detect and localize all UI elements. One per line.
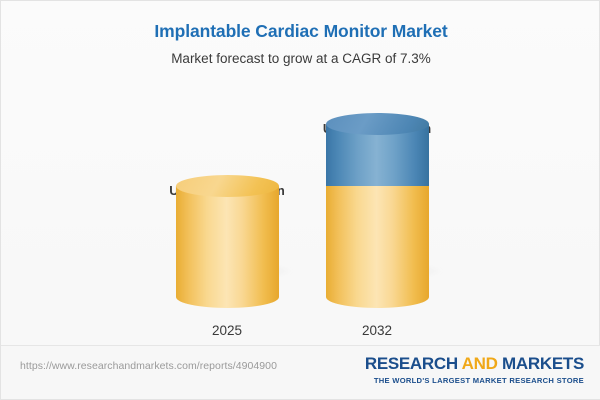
segment-cap-top: [326, 113, 429, 135]
bar-segment-base-2025: [176, 186, 279, 297]
segment-cap-top: [176, 175, 279, 197]
segment-cap-bottom: [176, 286, 279, 308]
bar-segment-growth-2032: [326, 124, 429, 186]
logo-word-markets: MARKETS: [502, 354, 584, 373]
x-axis-label-2025: 2025: [147, 323, 307, 338]
chart-plot-area: USD 672.84 Million 2025 USD 1,100 Millio…: [1, 1, 600, 346]
logo-word-research: RESEARCH: [365, 354, 458, 373]
infographic-card: Implantable Cardiac Monitor Market Marke…: [0, 0, 600, 400]
logo-wordmark: RESEARCH AND MARKETS: [365, 354, 584, 374]
bar-segment-base-2032: [326, 186, 429, 297]
logo-word-and: AND: [462, 354, 498, 373]
x-axis-label-2032: 2032: [297, 323, 457, 338]
logo-tagline: THE WORLD'S LARGEST MARKET RESEARCH STOR…: [365, 376, 584, 385]
bar-cylinder-2025[interactable]: [176, 186, 279, 308]
source-url[interactable]: https://www.researchandmarkets.com/repor…: [20, 360, 277, 372]
bar-cylinder-2032[interactable]: [326, 124, 429, 308]
segment-body: [326, 186, 429, 297]
footer: https://www.researchandmarkets.com/repor…: [1, 345, 600, 399]
segment-cap-bottom: [326, 286, 429, 308]
segment-body: [176, 186, 279, 297]
brand-logo: RESEARCH AND MARKETS THE WORLD'S LARGEST…: [365, 354, 584, 385]
